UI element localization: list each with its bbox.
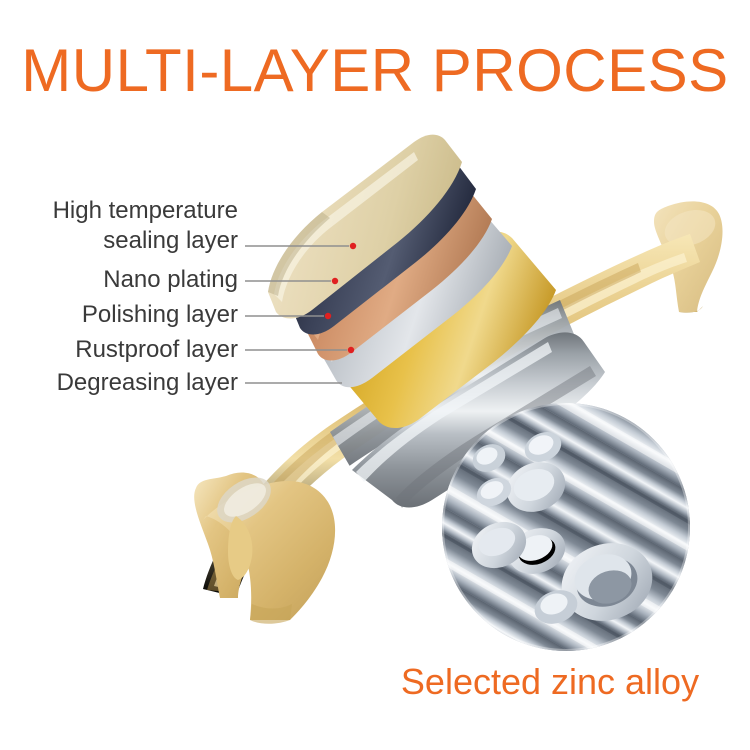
label-degreasing-layer: Degreasing layer [0, 368, 238, 398]
label-line-2: sealing layer [0, 226, 238, 256]
handle-left-foot [194, 468, 335, 623]
label-line-1: High temperature [0, 196, 238, 226]
label-rustproof-layer: Rustproof layer [0, 335, 238, 365]
label-polishing-layer: Polishing layer [0, 300, 238, 330]
red-dot-icon [332, 278, 338, 284]
red-dot-icon [350, 243, 356, 249]
label-high-temperature-sealing-layer: High temperature sealing layer [0, 196, 238, 256]
label-nano-plating: Nano plating [0, 265, 238, 295]
infographic-canvas: MULTI-LAYER PROCESS [0, 0, 750, 750]
red-dot-icon [325, 313, 331, 319]
red-dot-icon [348, 347, 354, 353]
inset-caption: Selected zinc alloy [360, 660, 740, 704]
